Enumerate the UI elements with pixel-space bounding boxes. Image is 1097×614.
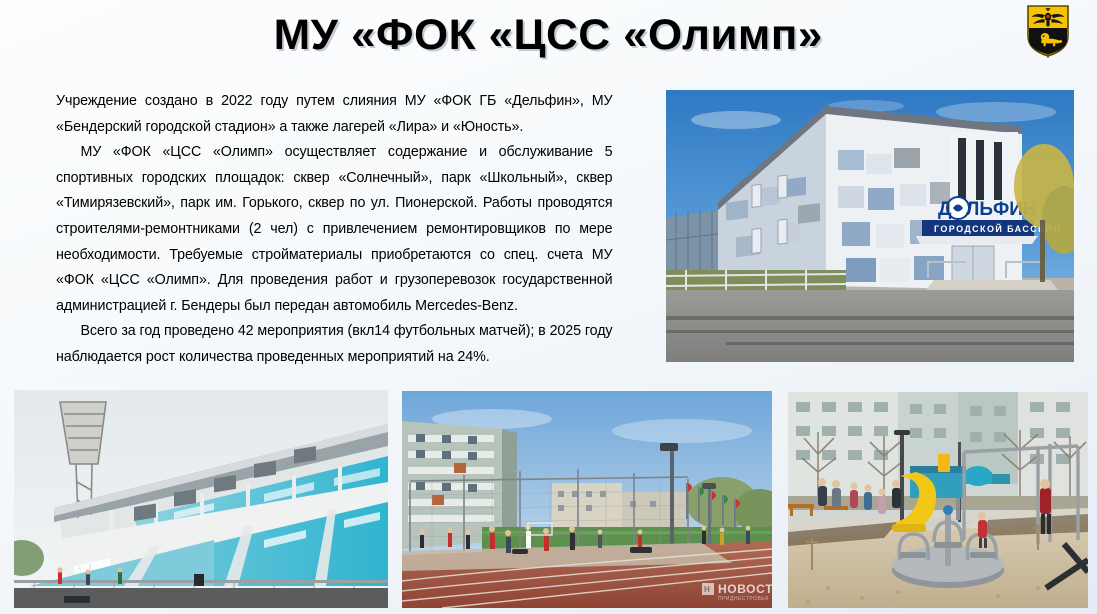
stadium-photo bbox=[14, 390, 388, 608]
playground-photo bbox=[788, 392, 1088, 608]
paragraph-3: Всего за год проведено 42 мероприятия (в… bbox=[56, 318, 612, 369]
bendery-coat-of-arms-icon bbox=[1026, 4, 1070, 58]
slide-body-text: Учреждение создано в 2022 году путем сли… bbox=[56, 88, 612, 370]
sports-field-photo: Н НОВОСТИ ПРИДНЕСТРОВЬЯ bbox=[402, 391, 772, 608]
svg-text:НОВОСТИ: НОВОСТИ bbox=[718, 582, 772, 596]
paragraph-2: МУ «ФОК «ЦСС «Олимп» осуществляет содерж… bbox=[56, 139, 612, 318]
presentation-slide: МУ «ФОК «ЦСС «Олимп» bbox=[0, 0, 1097, 614]
svg-text:ПРИДНЕСТРОВЬЯ: ПРИДНЕСТРОВЬЯ bbox=[718, 596, 769, 602]
svg-text:Н: Н bbox=[704, 585, 710, 594]
pool-building-photo: ЛЬФИН Д ГОРОДСКОЙ БАССЕЙН bbox=[666, 90, 1074, 362]
paragraph-1: Учреждение создано в 2022 году путем сли… bbox=[56, 88, 612, 139]
page-title: МУ «ФОК «ЦСС «Олимп» bbox=[274, 11, 823, 60]
slide-title-bar: МУ «ФОК «ЦСС «Олимп» bbox=[0, 2, 1097, 68]
svg-text:Д: Д bbox=[938, 199, 952, 220]
